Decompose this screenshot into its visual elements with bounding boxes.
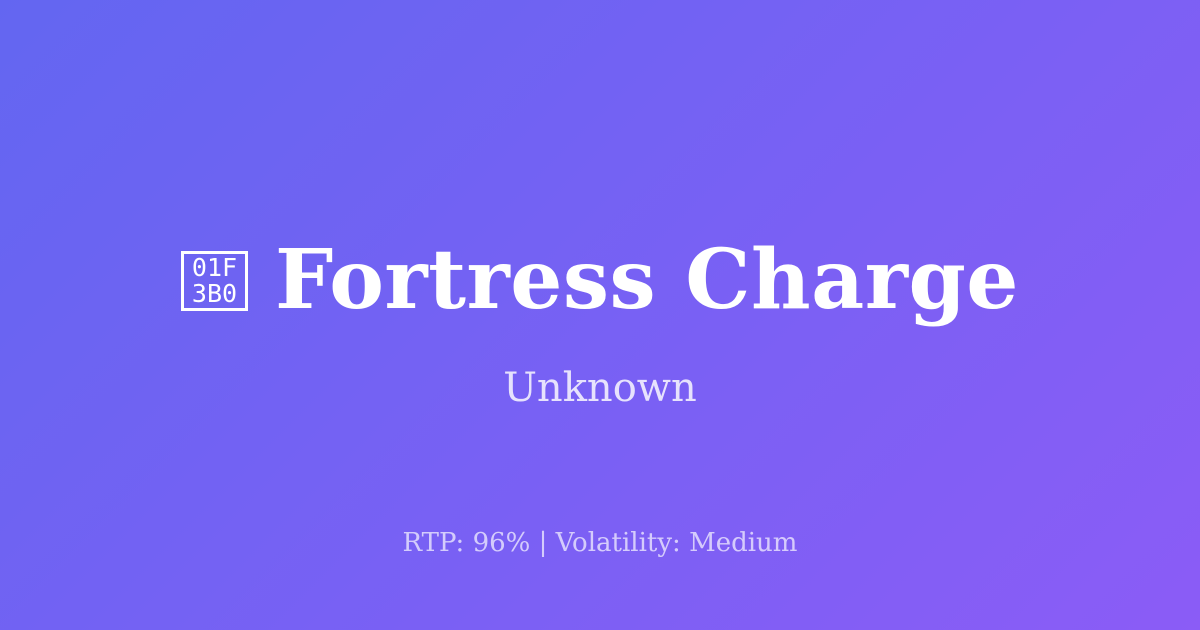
tofu-codepoint-top: 01F	[192, 255, 237, 281]
slot-machine-emoji-tofu-icon: 01F 3B0	[181, 251, 248, 311]
game-stats-line: RTP: 96% | Volatility: Medium	[0, 527, 1200, 559]
title-row: 01F 3B0 Fortress Charge	[0, 232, 1200, 328]
og-card: 01F 3B0 Fortress Charge Unknown RTP: 96%…	[0, 0, 1200, 630]
provider-subtitle: Unknown	[0, 364, 1200, 412]
tofu-codepoint-bottom: 3B0	[192, 281, 237, 307]
page-title: Fortress Charge	[275, 232, 1019, 328]
